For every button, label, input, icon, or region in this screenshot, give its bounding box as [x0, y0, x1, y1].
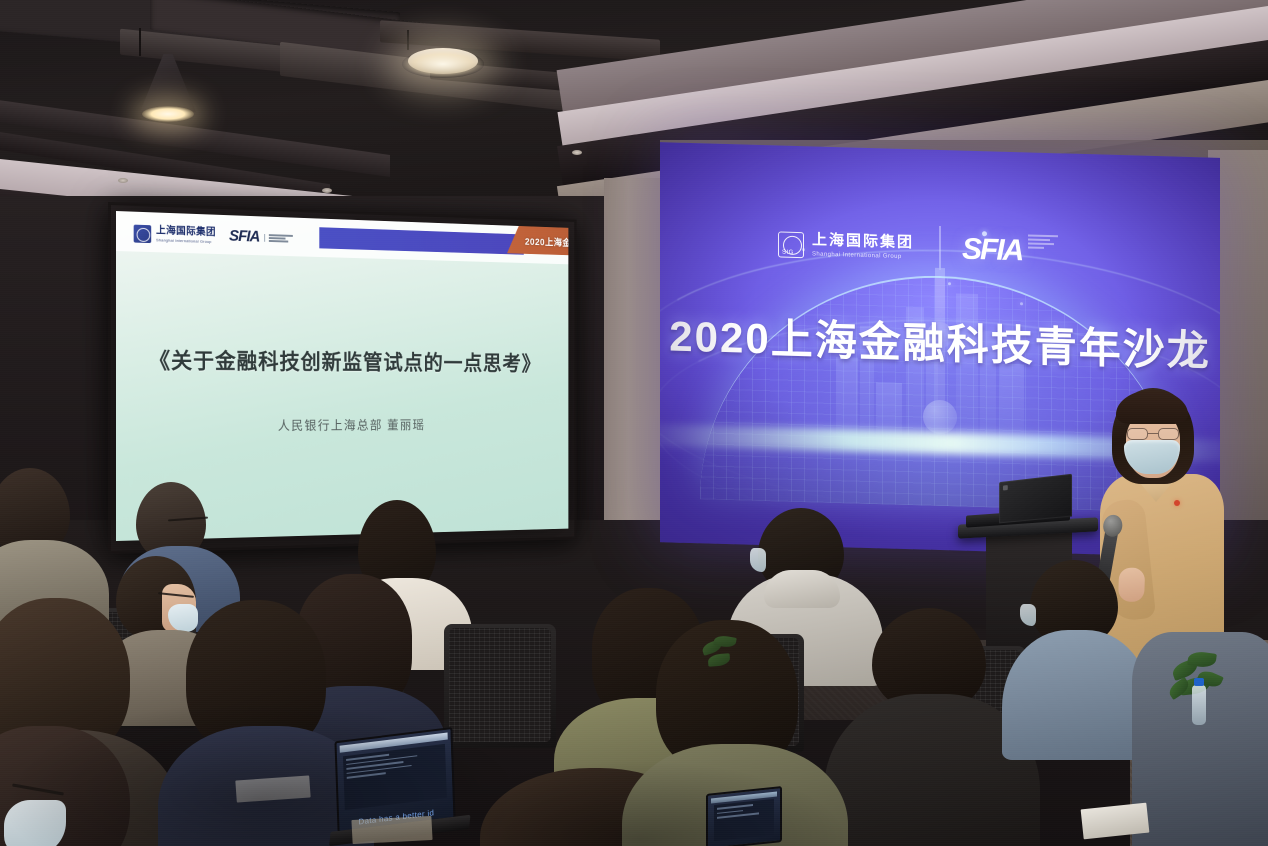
recessed-downlight — [322, 188, 332, 193]
bottle-cap-icon — [1194, 678, 1204, 686]
speaker-hair-fringe — [1116, 390, 1188, 424]
plant-leaf — [708, 653, 731, 667]
slide-event-banner-text: 2020上海金融科技青年沙龙 — [525, 233, 568, 250]
glasses-icon — [1126, 428, 1180, 440]
sig-logo: 上海国际集团 Shanghai International Group — [134, 225, 216, 245]
lamp-glow — [402, 50, 484, 78]
podium-laptop[interactable] — [999, 474, 1072, 524]
hoodie-hood — [764, 570, 840, 608]
sig-logo-cn: 上海国际集团 — [156, 226, 216, 238]
conference-room-photo: 2020上海金融科技青年沙龙 上海国际集团 Shanghai Internati… — [0, 0, 1268, 846]
lamp-cord — [407, 30, 409, 50]
recessed-downlight — [572, 150, 582, 155]
slide-title: 《关于金融科技创新监管试点的一点思考》 — [116, 343, 568, 377]
potted-plant — [700, 636, 740, 678]
water-bottle — [1192, 685, 1206, 725]
microphone-head-icon — [1101, 513, 1124, 538]
audience-member — [0, 468, 94, 618]
sfia-logo-subtext — [264, 234, 293, 243]
audience-shoulders — [1002, 630, 1152, 760]
lamp-glow — [142, 106, 194, 122]
sig-logo-icon — [134, 225, 152, 243]
audience-member — [842, 608, 1022, 846]
sfia-logo-text: SFIA — [229, 228, 259, 247]
audience-member — [1012, 560, 1142, 760]
sig-logo-en: Shanghai International Group — [156, 238, 216, 244]
face-mask — [1020, 604, 1036, 626]
laptop-logo-icon — [1003, 485, 1008, 490]
foreground-shadow — [430, 760, 850, 846]
slide-subtitle: 人民银行上海总部 董丽瑶 — [116, 415, 568, 435]
audience-member — [1146, 596, 1268, 846]
lamp-cord — [139, 28, 141, 56]
lapel-pin-icon — [1174, 500, 1180, 506]
recessed-downlight — [118, 178, 128, 183]
face-mask — [750, 548, 766, 572]
sfia-logo: SFIA — [229, 228, 293, 248]
